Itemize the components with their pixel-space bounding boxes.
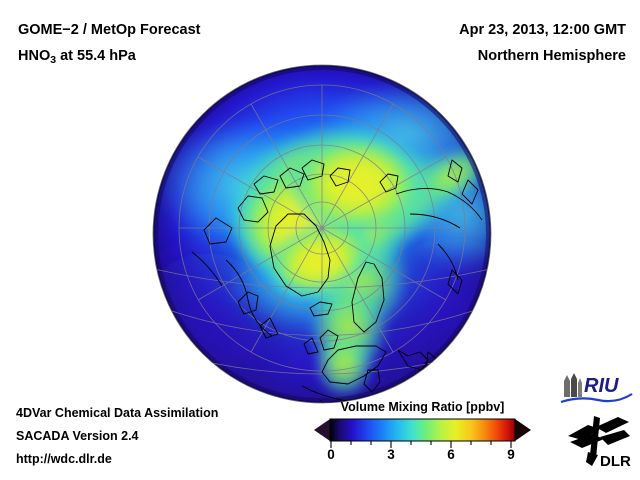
dlr-wordmark: DLR — [600, 453, 631, 470]
riu-stacks-icon — [564, 373, 582, 397]
globe-map — [152, 64, 492, 404]
colorbar-extend-max — [515, 419, 531, 441]
forecast-datetime: Apr 23, 2013, 12:00 GMT — [459, 17, 626, 43]
figure-title-right: Apr 23, 2013, 12:00 GMT Northern Hemisph… — [459, 17, 626, 69]
instrument-title: GOME−2 / MetOp Forecast — [18, 17, 201, 43]
colorbar-extend-min — [314, 419, 330, 441]
globe-disk — [152, 65, 492, 404]
riu-logo: RIU — [558, 372, 634, 406]
dlr-logo: DLR — [566, 414, 632, 472]
colorbar-tick-label-9: 9 — [507, 447, 515, 462]
figure-credits: 4DVar Chemical Data Assimilation SACADA … — [16, 402, 218, 471]
colorbar-tick-label-6: 6 — [447, 447, 455, 462]
colorbar-tick-label-3: 3 — [387, 447, 395, 462]
riu-logo-graphic: RIU — [558, 372, 634, 406]
species-suffix: at 55.4 hPa — [56, 48, 136, 64]
colorbar: Volume Mixing Ratio [ppbv] — [310, 400, 535, 470]
species-prefix: HNO — [18, 48, 50, 64]
forecast-map-figure: GOME−2 / MetOp Forecast HNO3 at 55.4 hPa… — [0, 0, 640, 480]
colorbar-title: Volume Mixing Ratio [ppbv] — [310, 400, 535, 414]
credit-method: 4DVar Chemical Data Assimilation — [16, 402, 218, 425]
colorbar-ticks — [331, 441, 511, 448]
dlr-logo-graphic: DLR — [566, 414, 632, 472]
orthographic-projection — [152, 64, 492, 404]
colorbar-gradient — [310, 417, 535, 449]
credit-url[interactable]: http://wdc.dlr.de — [16, 448, 218, 471]
credit-version: SACADA Version 2.4 — [16, 425, 218, 448]
colorbar-tick-label-0: 0 — [327, 447, 335, 462]
colorbar-body — [330, 419, 515, 441]
riu-wordmark: RIU — [584, 375, 619, 397]
